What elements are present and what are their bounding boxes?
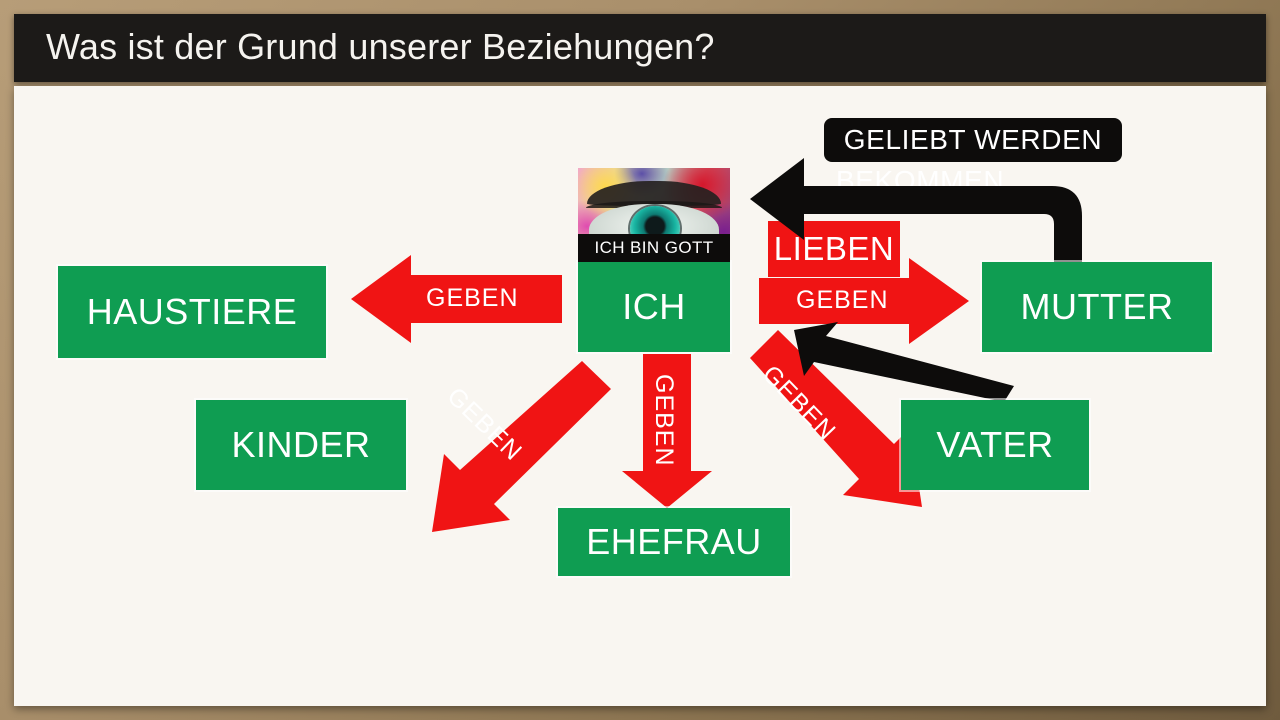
page-title: Was ist der Grund unserer Beziehungen? [46, 26, 715, 68]
painted-eye-image: ICH BIN GOTT [578, 168, 730, 262]
slide-root: Was ist der Grund unserer Beziehungen? [0, 0, 1280, 720]
eye-caption-label: ICH BIN GOTT [594, 238, 713, 258]
node-vater[interactable]: VATER [901, 400, 1089, 490]
node-kinder[interactable]: KINDER [196, 400, 406, 490]
node-ehefrau[interactable]: EHEFRAU [558, 508, 790, 576]
node-vater-label: VATER [936, 427, 1053, 463]
node-ehefrau-label: EHEFRAU [586, 524, 762, 560]
node-kinder-label: KINDER [231, 427, 370, 463]
eye-caption-bar: ICH BIN GOTT [578, 234, 730, 262]
node-mutter[interactable]: MUTTER [982, 262, 1212, 352]
slide-title-bar: Was ist der Grund unserer Beziehungen? [14, 14, 1266, 82]
slide-canvas: HAUSTIERE ICH MUTTER KINDER EHEFRAU VATE… [14, 86, 1266, 706]
node-haustiere-label: HAUSTIERE [87, 294, 298, 330]
ich-bin-gott-image-block: ICH BIN GOTT [578, 168, 730, 262]
node-ich[interactable]: ICH [578, 262, 730, 352]
node-mutter-label: MUTTER [1021, 289, 1174, 325]
node-ich-label: ICH [622, 289, 686, 325]
arrow-mutter-to-ich [750, 158, 1082, 264]
node-haustiere[interactable]: HAUSTIERE [58, 266, 326, 358]
arrow-vater-to-ich [794, 322, 1014, 402]
